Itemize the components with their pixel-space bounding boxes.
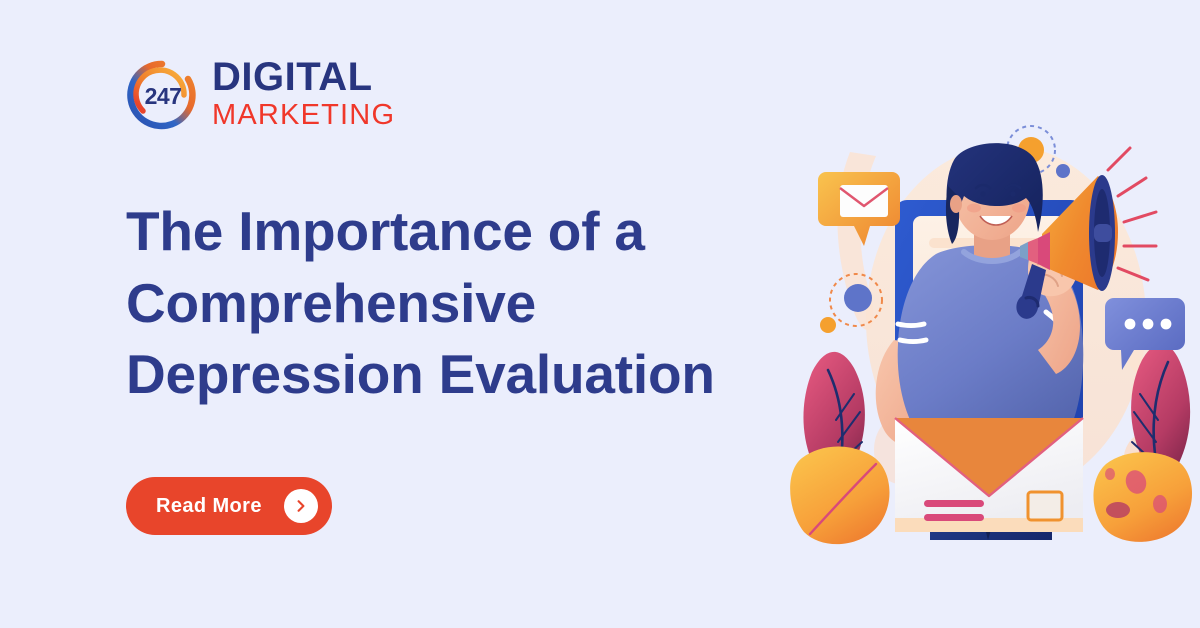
- brand-logo[interactable]: 247 DIGITAL MARKETING: [126, 58, 395, 132]
- logo-word-digital: DIGITAL: [212, 58, 395, 97]
- blog-banner: 247 DIGITAL MARKETING The Importance of …: [0, 0, 1200, 628]
- chevron-right-icon: [284, 489, 318, 523]
- svg-text:247: 247: [145, 83, 182, 109]
- headline-line-1: The Importance of a: [126, 196, 766, 268]
- logo-wordmark: DIGITAL MARKETING: [212, 58, 395, 132]
- headline-line-2: Comprehensive: [126, 268, 766, 340]
- headline-line-3: Depression Evaluation: [126, 339, 766, 411]
- logo-247-icon: 247: [126, 59, 198, 131]
- logo-word-marketing: MARKETING: [212, 99, 395, 131]
- read-more-label: Read More: [156, 495, 262, 518]
- envelope-icon: [895, 418, 1083, 532]
- read-more-button[interactable]: Read More: [126, 477, 332, 535]
- hero-illustration: [788, 112, 1200, 552]
- page-title: The Importance of a Comprehensive Depres…: [126, 196, 766, 411]
